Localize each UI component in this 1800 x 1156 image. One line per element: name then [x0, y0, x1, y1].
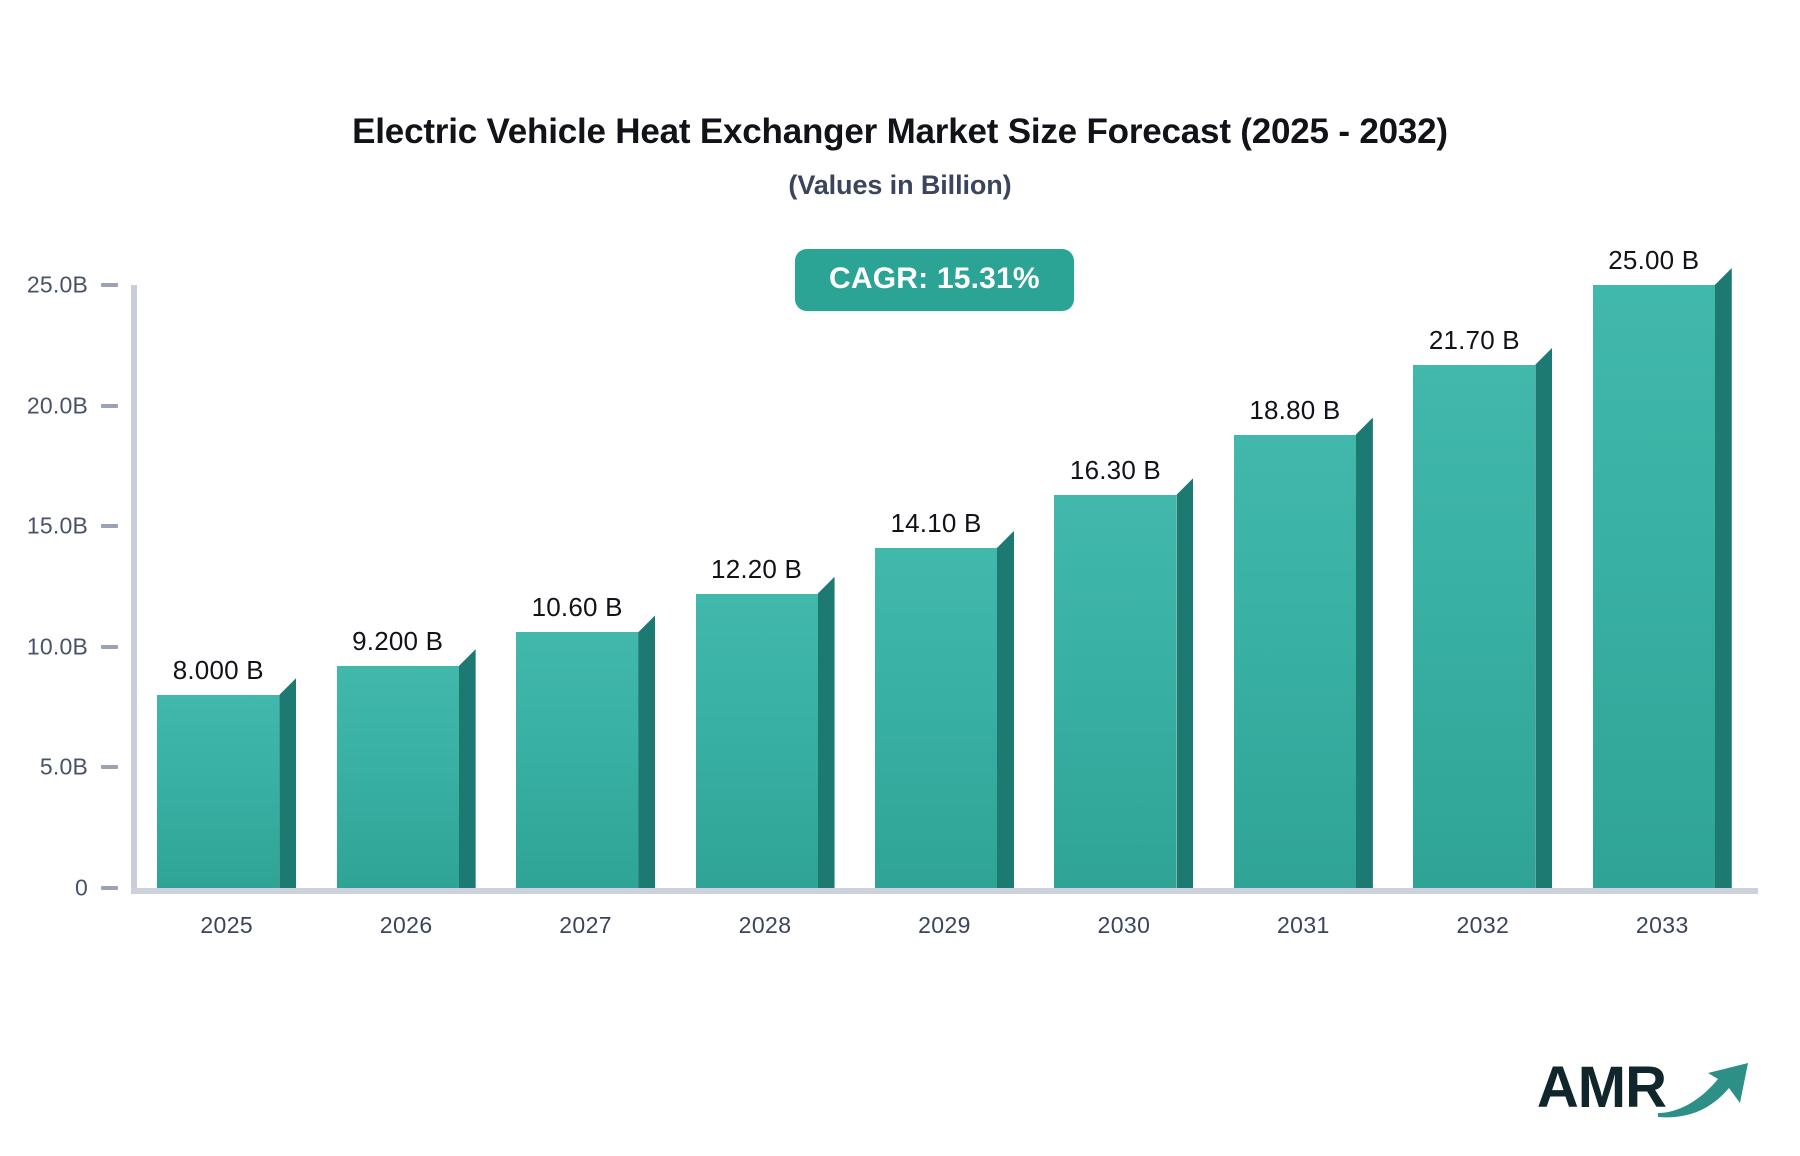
bar-front-face: [1593, 285, 1715, 888]
y-axis-tick-mark: [101, 404, 118, 408]
x-axis-tick-label: 2031: [1214, 912, 1393, 939]
logo-text: AMR: [1537, 1059, 1666, 1117]
bar-front-face: [1413, 365, 1535, 888]
bar-side-face: [1535, 348, 1552, 888]
x-axis-tick-label: 2032: [1393, 912, 1572, 939]
y-axis-tick-label: 0: [0, 875, 88, 902]
bar-value-label: 10.60 B: [516, 592, 638, 623]
bar-value-label: 25.00 B: [1593, 245, 1715, 276]
bar-side-face: [459, 649, 476, 888]
bar-front-face: [157, 695, 279, 888]
x-axis-line: [131, 888, 1758, 894]
x-axis-tick-label: 2025: [137, 912, 316, 939]
y-axis-line: [131, 285, 137, 892]
amr-logo: AMR: [1537, 1057, 1752, 1118]
y-axis-tick-mark: [101, 524, 118, 528]
x-axis-tick-label: 2029: [855, 912, 1034, 939]
x-axis-tick-label: 2033: [1573, 912, 1752, 939]
bar-side-face: [279, 678, 296, 888]
y-axis-tick-label: 15.0B: [0, 513, 88, 540]
y-axis-tick-label: 20.0B: [0, 392, 88, 419]
bar-2029[interactable]: 14.10 B: [875, 548, 997, 888]
bar-side-face: [1176, 478, 1193, 888]
x-axis-tick-label: 2030: [1034, 912, 1213, 939]
x-axis-tick-label: 2028: [675, 912, 854, 939]
bar-2031[interactable]: 18.80 B: [1234, 435, 1356, 888]
bar-value-label: 8.000 B: [157, 655, 279, 686]
bar-front-face: [875, 548, 997, 888]
chart-canvas: Electric Vehicle Heat Exchanger Market S…: [0, 0, 1800, 1156]
bar-value-label: 14.10 B: [875, 508, 997, 539]
y-axis-tick-mark: [101, 886, 118, 890]
bar-value-label: 9.200 B: [337, 626, 459, 657]
bar-front-face: [1054, 495, 1176, 888]
bar-2025[interactable]: 8.000 B: [157, 695, 279, 888]
x-axis-tick-label: 2027: [496, 912, 675, 939]
bar-side-face: [818, 577, 835, 888]
bar-2033[interactable]: 25.00 B: [1593, 285, 1715, 888]
bar-front-face: [516, 632, 638, 888]
plot-area: 25.0B20.0B15.0B10.0B5.0B0 8.000 B9.200 B…: [0, 0, 1800, 1156]
y-axis-tick-label: 25.0B: [0, 272, 88, 299]
bar-front-face: [337, 666, 459, 888]
bar-side-face: [638, 615, 655, 888]
bar-side-face: [1715, 268, 1732, 888]
trending-up-arrow-icon: [1656, 1057, 1752, 1124]
bar-2032[interactable]: 21.70 B: [1413, 365, 1535, 888]
y-axis-tick-label: 5.0B: [0, 754, 88, 781]
y-axis-tick-mark: [101, 283, 118, 287]
bar-2030[interactable]: 16.30 B: [1054, 495, 1176, 888]
bar-value-label: 21.70 B: [1413, 325, 1535, 356]
y-axis-tick-label: 10.0B: [0, 633, 88, 660]
bar-side-face: [997, 531, 1014, 888]
x-axis-tick-label: 2026: [316, 912, 495, 939]
bar-value-label: 16.30 B: [1054, 455, 1176, 486]
y-axis-tick-mark: [101, 645, 118, 649]
bar-front-face: [696, 594, 818, 888]
bar-side-face: [1356, 418, 1373, 888]
bar-value-label: 18.80 B: [1234, 395, 1356, 426]
bar-value-label: 12.20 B: [696, 554, 818, 585]
bar-2027[interactable]: 10.60 B: [516, 632, 638, 888]
bar-2028[interactable]: 12.20 B: [696, 594, 818, 888]
bar-2026[interactable]: 9.200 B: [337, 666, 459, 888]
bar-front-face: [1234, 435, 1356, 888]
y-axis-tick-mark: [101, 765, 118, 769]
